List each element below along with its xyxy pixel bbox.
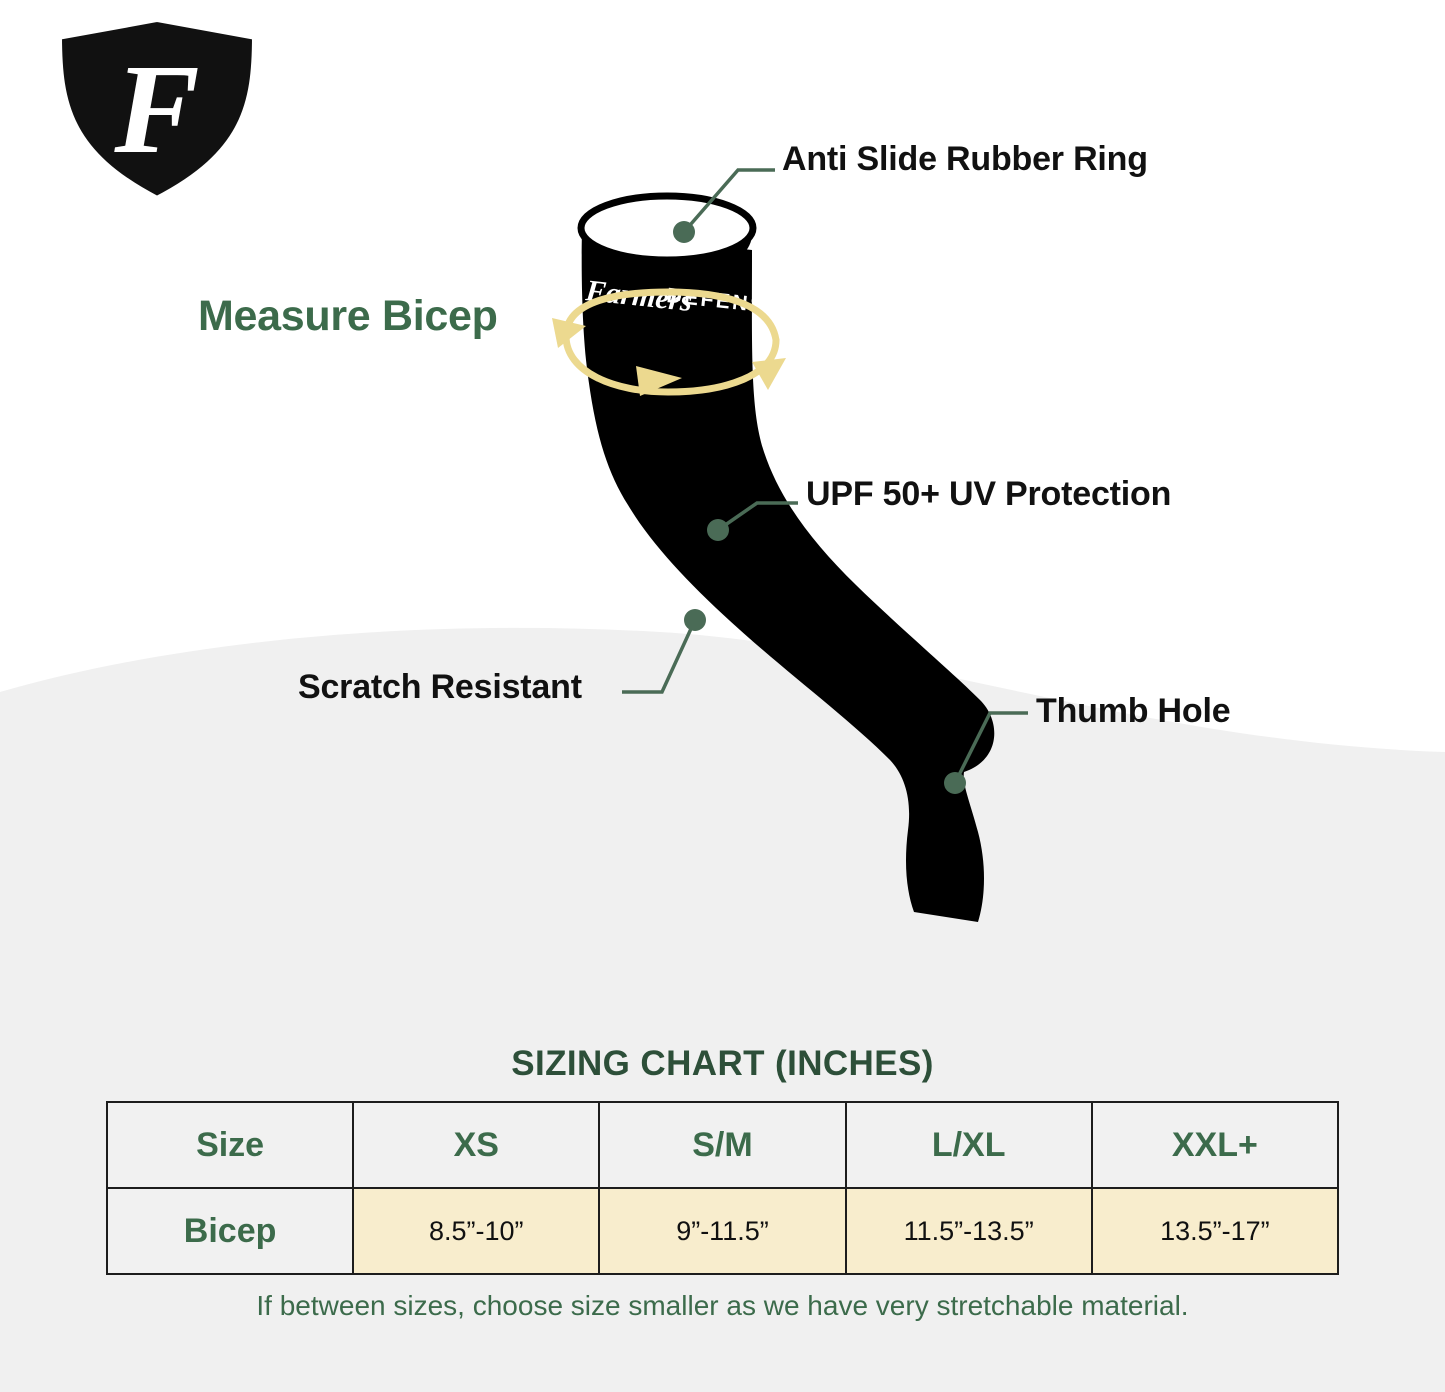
table-header-row: Size XS S/M L/XL XXL+ xyxy=(107,1102,1338,1188)
table-row: Bicep 8.5”-10” 9”-11.5” 11.5”-13.5” 13.5… xyxy=(107,1188,1338,1274)
column-header-xxl: XXL+ xyxy=(1092,1102,1338,1188)
cell-bicep-xs: 8.5”-10” xyxy=(353,1188,599,1274)
callout-label-scratch-resistant: Scratch Resistant xyxy=(298,668,582,707)
sizing-chart-table: Size XS S/M L/XL XXL+ Bicep 8.5”-10” 9”-… xyxy=(106,1101,1339,1275)
cell-bicep-lxl: 11.5”-13.5” xyxy=(846,1188,1092,1274)
cell-bicep-xxl: 13.5”-17” xyxy=(1092,1188,1338,1274)
callout-label-thumb-hole: Thumb Hole xyxy=(1036,692,1230,731)
column-header-xs: XS xyxy=(353,1102,599,1188)
measure-bicep-label: Measure Bicep xyxy=(198,292,498,341)
callout-label-anti-slide-rubber-ring: Anti Slide Rubber Ring xyxy=(782,140,1148,179)
sizing-infographic: F Farmers DEFENSE xyxy=(0,0,1445,1392)
callout-line-scratch-resistant xyxy=(622,609,706,692)
column-header-sm: S/M xyxy=(599,1102,845,1188)
callout-label-upf-protection: UPF 50+ UV Protection xyxy=(806,475,1171,514)
sizing-chart-title: SIZING CHART (INCHES) xyxy=(0,1044,1445,1084)
column-header-size: Size xyxy=(107,1102,353,1188)
row-label-bicep: Bicep xyxy=(107,1188,353,1274)
cell-bicep-sm: 9”-11.5” xyxy=(599,1188,845,1274)
arm-sleeve-illustration: Farmers DEFENSE xyxy=(0,0,1445,1000)
sizing-note: If between sizes, choose size smaller as… xyxy=(0,1290,1445,1322)
column-header-lxl: L/XL xyxy=(846,1102,1092,1188)
